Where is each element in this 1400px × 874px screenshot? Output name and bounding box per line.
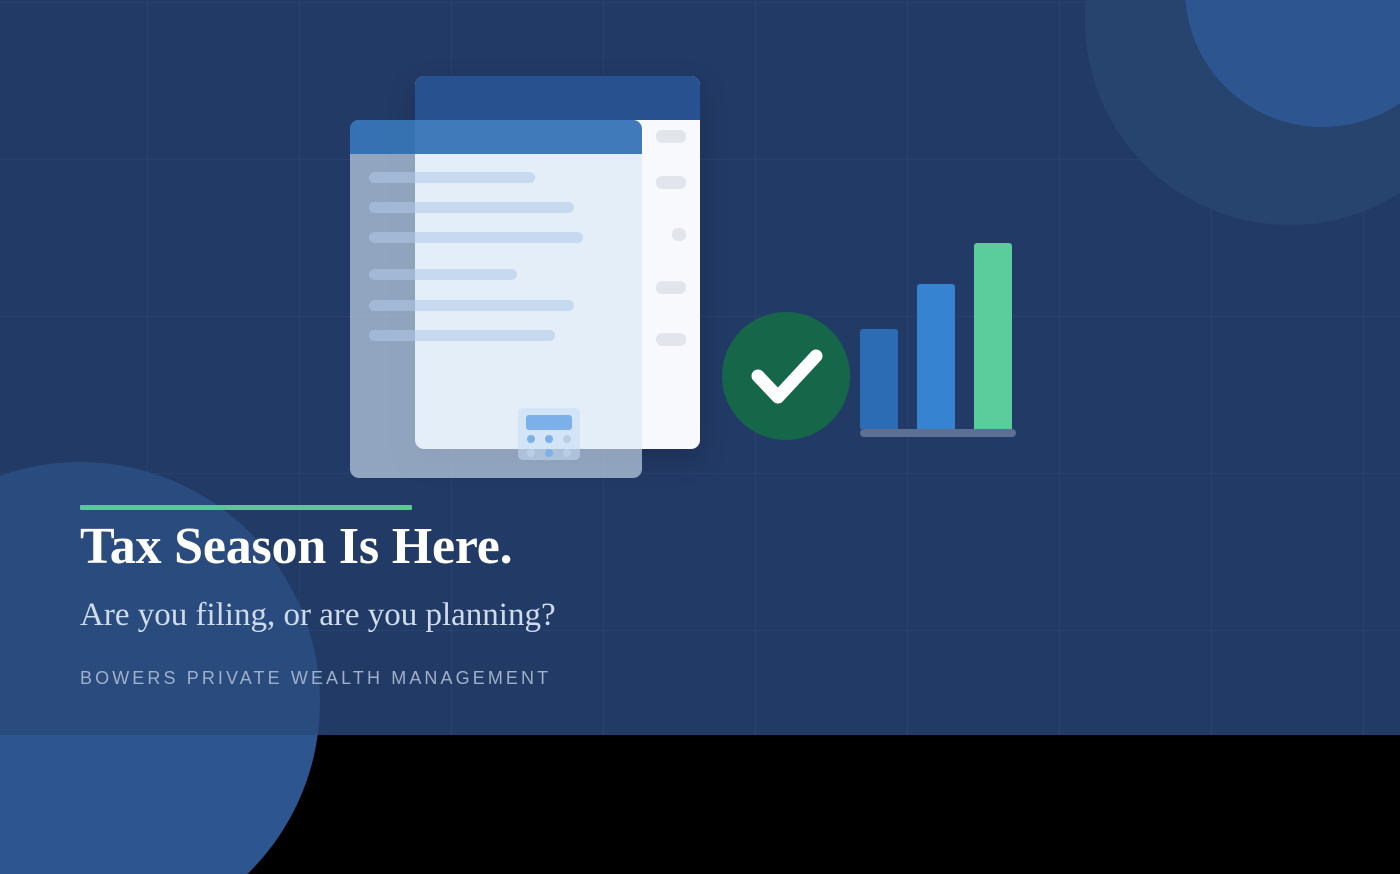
page-subtitle: Are you filing, or are you planning? [80,597,840,635]
chart-bar [860,329,898,429]
calculator-screen [526,415,572,430]
growth-bar-chart [860,247,1018,445]
page-title: Tax Season Is Here. [80,519,840,574]
overlay-text-line [369,330,555,341]
overlay-text-line [369,202,574,213]
overlay-text-line [369,232,583,243]
overlay-text-line [369,300,574,311]
document-text-line [672,228,686,241]
calculator-key [527,449,535,457]
calculator-key [527,435,535,443]
poster-canvas: Tax Season Is Here. Are you filing, or a… [0,0,1400,874]
overlay-text-line [369,269,517,280]
chart-baseline [860,429,1016,437]
calculator-key [563,435,571,443]
calculator-icon [518,408,580,460]
overlay-header-bar [350,120,642,154]
headline-block: Tax Season Is Here. Are you filing, or a… [80,505,840,689]
calculator-key [563,449,571,457]
overlay-text-line [369,172,535,183]
accent-rule [80,505,412,510]
chart-bar [917,284,955,429]
calculator-key [545,435,553,443]
tax-documents-illustration [348,72,1028,482]
document-text-line [656,281,686,294]
tax-return-overlay [350,120,642,478]
verified-check-icon [722,312,850,440]
document-header-bar [415,76,700,120]
navy-content-panel: Tax Season Is Here. Are you filing, or a… [0,0,1400,735]
chart-bar [974,243,1012,429]
document-text-line [656,130,686,143]
brand-name: BOWERS PRIVATE WEALTH MANAGEMENT [80,668,840,689]
document-text-line [656,333,686,346]
document-text-line [656,176,686,189]
calculator-key [545,449,553,457]
